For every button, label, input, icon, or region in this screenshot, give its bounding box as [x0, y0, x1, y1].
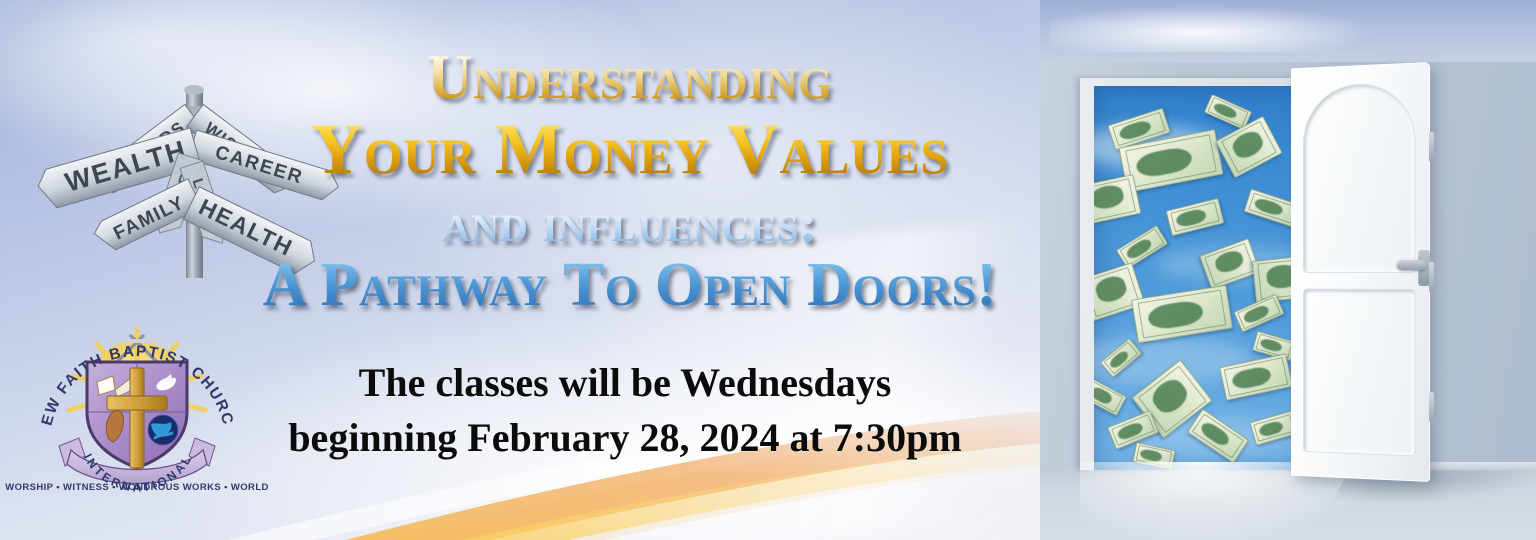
- headline-block: Understanding Your Money Values and infl…: [180, 46, 1080, 316]
- door-hinge-top: [1429, 132, 1434, 162]
- headline-line-4: A Pathway To Open Doors!: [180, 254, 1080, 316]
- dollar-bill: [1166, 198, 1225, 236]
- event-details: The classes will be Wednesdays beginning…: [210, 355, 1040, 465]
- dollar-bill: [1131, 285, 1233, 343]
- open-door[interactable]: [1291, 62, 1430, 482]
- logo-tagline: WORSHIP • WITNESS • WONDROUS WORKS • WOR…: [5, 482, 269, 493]
- globe-icon: [148, 415, 178, 445]
- church-event-banner: FRIENDS WISDOM CAREER WEALTH TIME: [0, 0, 1536, 540]
- headline-line-1: Understanding: [180, 46, 1080, 109]
- doorway-opening: [1094, 86, 1316, 470]
- church-logo: NEW FAITH BAPTIST CHURCH INTERNATIONAL W…: [35, 300, 240, 495]
- door-panel-top: [1304, 83, 1414, 272]
- event-details-line-2: beginning February 28, 2024 at 7:30pm: [210, 410, 1040, 465]
- headline-line-3: and influences:: [180, 195, 1080, 250]
- open-door-scene: [1040, 0, 1536, 540]
- sky-strip-above-wall: [1040, 0, 1536, 62]
- event-details-line-1: The classes will be Wednesdays: [210, 355, 1040, 410]
- dollar-bill: [1094, 378, 1127, 416]
- door-panel-bottom: [1304, 290, 1414, 456]
- headline-line-2: Your Money Values: [180, 113, 1080, 185]
- door-handle[interactable]: [1397, 260, 1426, 270]
- door-hinge-bottom: [1429, 392, 1434, 422]
- dollar-bill: [1215, 116, 1282, 178]
- door-hinge-middle: [1429, 262, 1434, 292]
- dollar-bill: [1094, 174, 1142, 226]
